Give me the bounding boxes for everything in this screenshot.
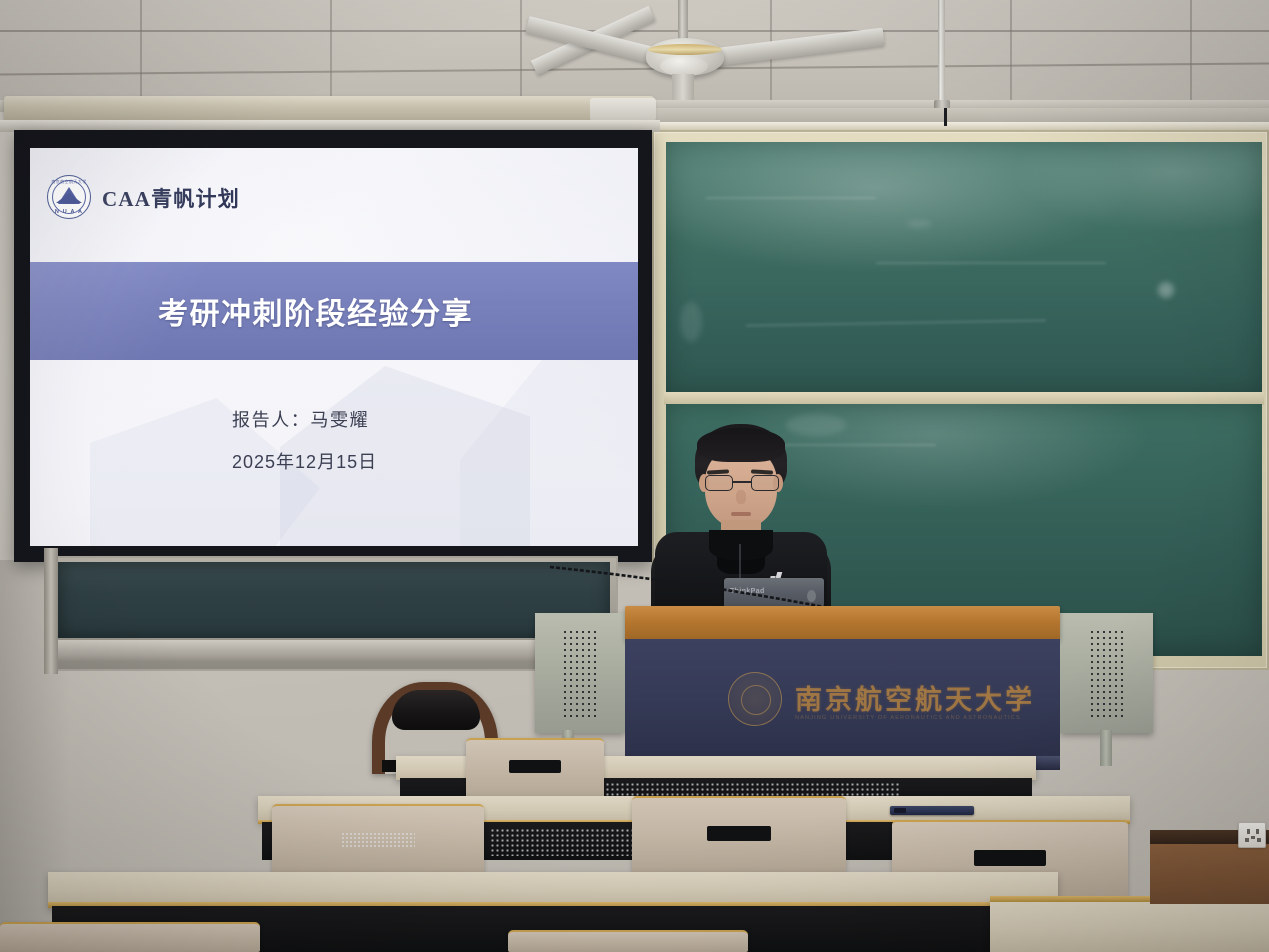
projection-screen-roller bbox=[4, 96, 654, 122]
slide-bg-polygon bbox=[460, 328, 638, 546]
power-outlet-icon[interactable] bbox=[1238, 822, 1266, 848]
board-left-edge bbox=[44, 548, 58, 674]
smartphone-icon[interactable] bbox=[890, 806, 974, 815]
chair-cushion bbox=[392, 690, 480, 730]
chair[interactable] bbox=[508, 930, 748, 952]
chair[interactable] bbox=[0, 922, 260, 952]
slide-title-band: 考研冲刺阶段经验分享 bbox=[30, 262, 638, 360]
loudspeaker-left bbox=[535, 613, 625, 733]
slide-brand-text: CAA青帆计划 bbox=[102, 183, 240, 213]
presentation-slide: 南京航空航天大学 1952 N U A A CAA青帆计划 考研冲刺阶段经验分享… bbox=[30, 148, 638, 546]
seal-year: 1952 bbox=[48, 200, 90, 206]
floor bbox=[1150, 844, 1269, 904]
chair[interactable] bbox=[632, 796, 846, 872]
podium-top bbox=[625, 606, 1060, 641]
desk-row-near-right bbox=[990, 900, 1269, 952]
boom-microphone-icon bbox=[944, 108, 947, 126]
roller-end-cap bbox=[590, 98, 656, 121]
chalkboard-upper bbox=[666, 142, 1262, 394]
chalk-tray bbox=[52, 640, 616, 662]
classroom-photo: 南京航空航天大学 1952 N U A A CAA青帆计划 考研冲刺阶段经验分享… bbox=[0, 0, 1269, 952]
chair[interactable] bbox=[466, 738, 604, 800]
chair[interactable] bbox=[272, 804, 484, 876]
loudspeaker-right bbox=[1060, 613, 1153, 733]
podium-university-name: 南京航空航天大学 bbox=[795, 678, 1035, 717]
laptop-brand-label: ThinkPad bbox=[730, 588, 765, 595]
podium-university-name-en: NANJING UNIVERSITY OF AERONAUTICS AND AS… bbox=[795, 715, 1021, 721]
lower-slate-board bbox=[58, 562, 610, 638]
seal-ring-text: 南京航空航天大学 bbox=[48, 179, 90, 185]
slide-title: 考研冲刺阶段经验分享 bbox=[158, 289, 473, 333]
speaker-leg bbox=[1100, 730, 1112, 766]
eyeglasses-icon bbox=[703, 475, 781, 491]
slide-presenter: 报告人：马雯耀 bbox=[232, 406, 369, 432]
slide-date: 2025年12月15日 bbox=[232, 448, 377, 474]
seal-english: N U A A bbox=[48, 209, 90, 215]
nuaa-seal-icon: 南京航空航天大学 1952 N U A A bbox=[47, 175, 91, 219]
nuaa-crest-icon bbox=[728, 672, 782, 726]
